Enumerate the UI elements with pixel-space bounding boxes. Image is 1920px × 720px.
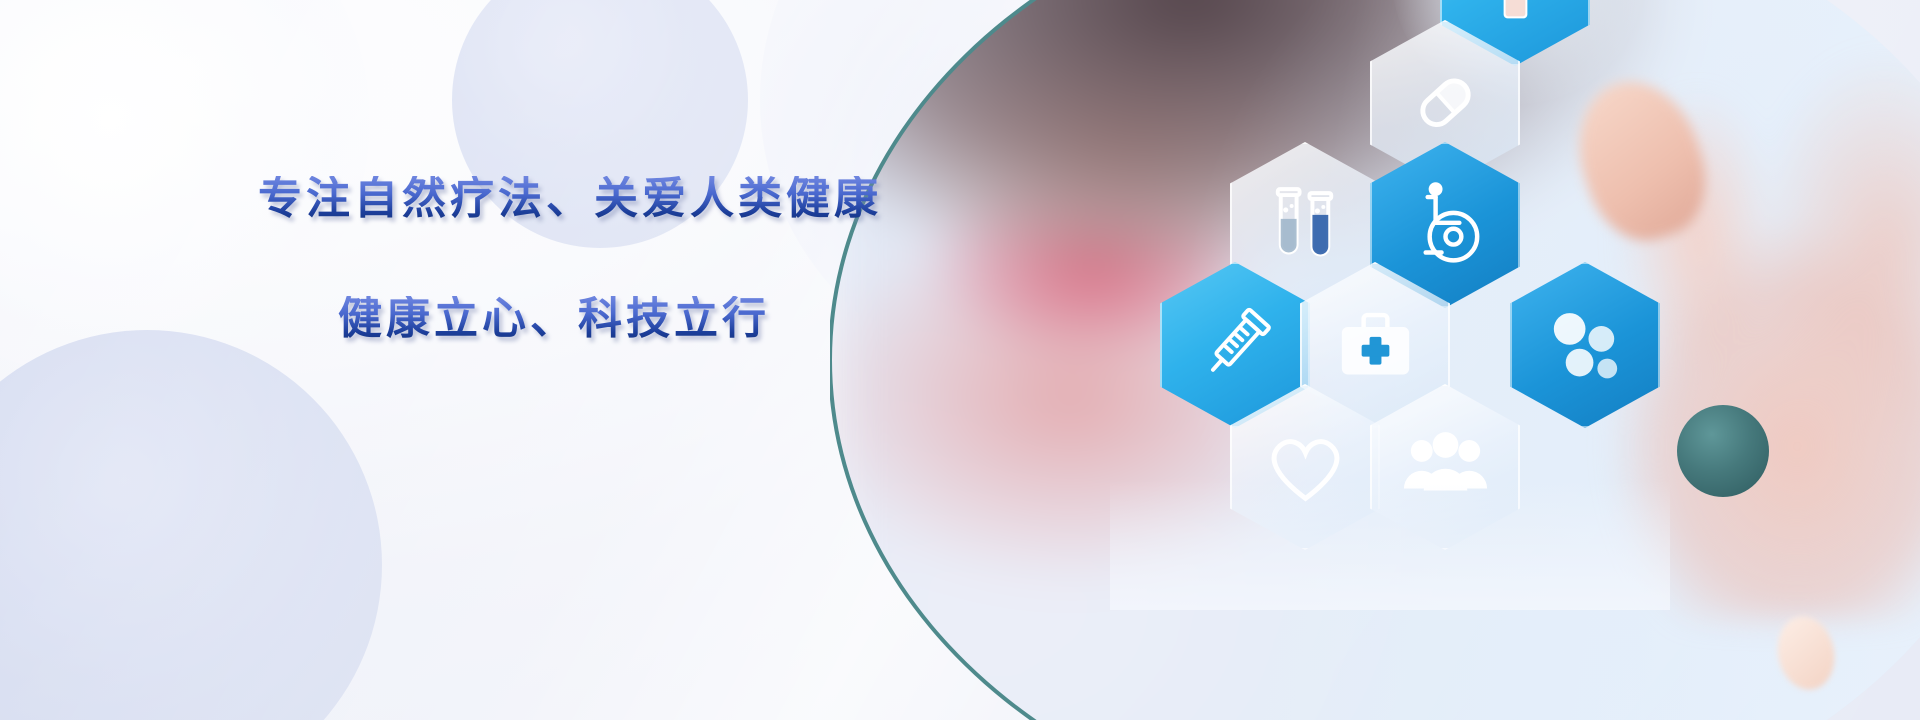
headline-line-1: 专注自然疗法、关爱人类健康 xyxy=(258,176,1018,222)
test-tubes-icon xyxy=(1256,170,1355,280)
wheelchair-icon xyxy=(1396,170,1495,280)
arc-clip xyxy=(830,0,1920,720)
hero-banner: 专注自然疗法、关爱人类健康 健康立心、科技立行 xyxy=(0,0,1920,720)
teal-dot-node xyxy=(1677,405,1769,497)
people-group-icon xyxy=(1396,412,1495,522)
hex-pills xyxy=(1510,262,1660,428)
capsule-pill-icon xyxy=(1396,48,1495,158)
syringe-icon xyxy=(1186,290,1285,400)
first-aid-kit-icon xyxy=(1326,290,1425,400)
heart-icon xyxy=(1256,412,1355,522)
medical-cross-icon xyxy=(1466,0,1565,38)
headline-line-2: 健康立心、科技立行 xyxy=(338,296,1018,342)
headline-block: 专注自然疗法、关爱人类健康 健康立心、科技立行 xyxy=(258,176,1018,342)
photo-panel xyxy=(830,0,1920,720)
decor-circle-bottom xyxy=(0,330,382,720)
pills-icon xyxy=(1536,290,1635,400)
